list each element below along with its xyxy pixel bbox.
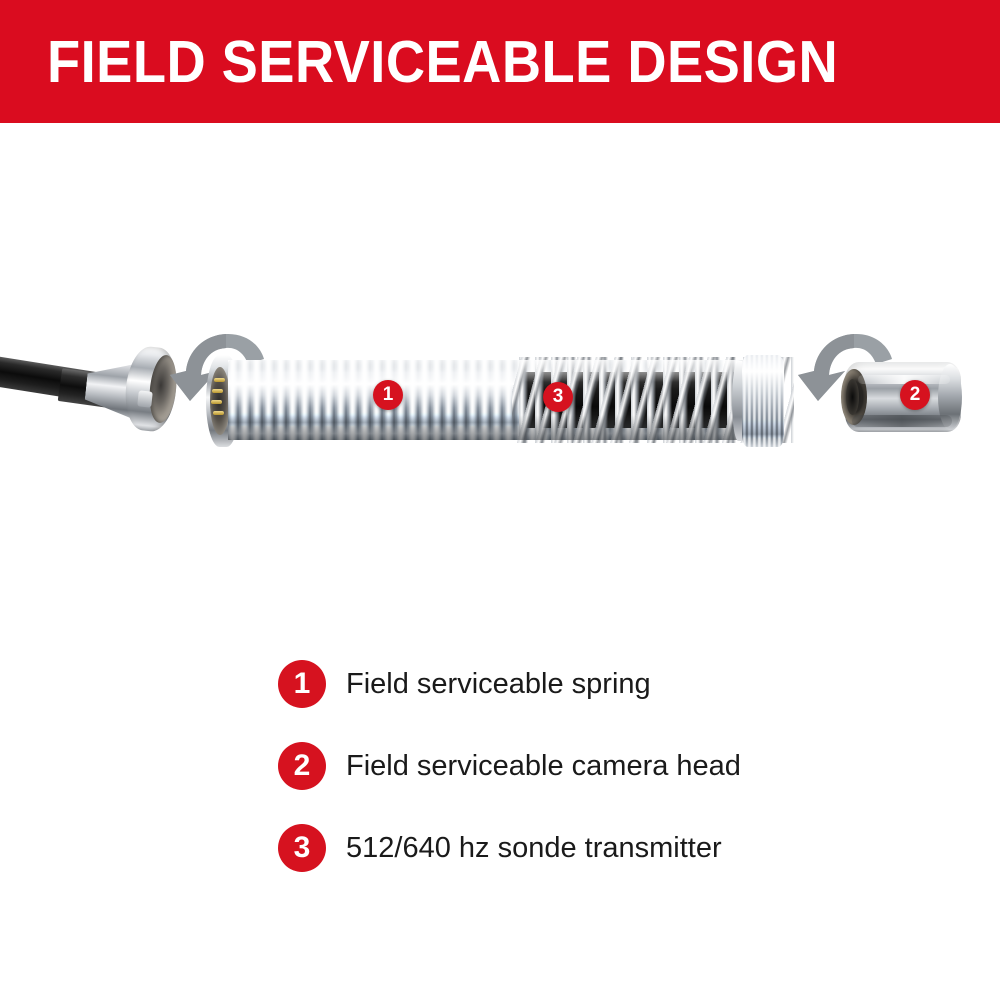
camera-head-highlight [858,375,950,384]
page-title: FIELD SERVICEABLE DESIGN [47,31,838,93]
legend-badge-3: 3 [278,824,326,872]
connector-pin [212,389,223,393]
legend-item-3: 3 512/640 hz sonde transmitter [278,824,838,872]
header-banner: FIELD SERVICEABLE DESIGN [0,0,1000,123]
legend-label-3: 512/640 hz sonde transmitter [346,831,722,865]
legend-item-1: 1 Field serviceable spring [278,660,838,708]
legend-item-2: 2 Field serviceable camera head [278,742,838,790]
legend-badge-1: 1 [278,660,326,708]
legend-badge-2: 2 [278,742,326,790]
legend-list: 1 Field serviceable spring 2 Field servi… [278,660,838,906]
callout-badge-3: 3 [543,382,573,412]
knurled-collar [742,355,784,447]
camera-head-shadow [852,415,952,427]
connector-pin [214,378,225,382]
callout-badge-1: 1 [373,380,403,410]
legend-label-1: Field serviceable spring [346,667,651,701]
connector-pin [211,400,222,404]
product-illustration: 1 3 2 [0,123,1000,640]
connector-pin [213,411,224,415]
legend-label-2: Field serviceable camera head [346,749,741,783]
camera-lens [846,379,859,415]
cable-coupler-key-tab [137,390,153,407]
callout-badge-2: 2 [900,380,930,410]
